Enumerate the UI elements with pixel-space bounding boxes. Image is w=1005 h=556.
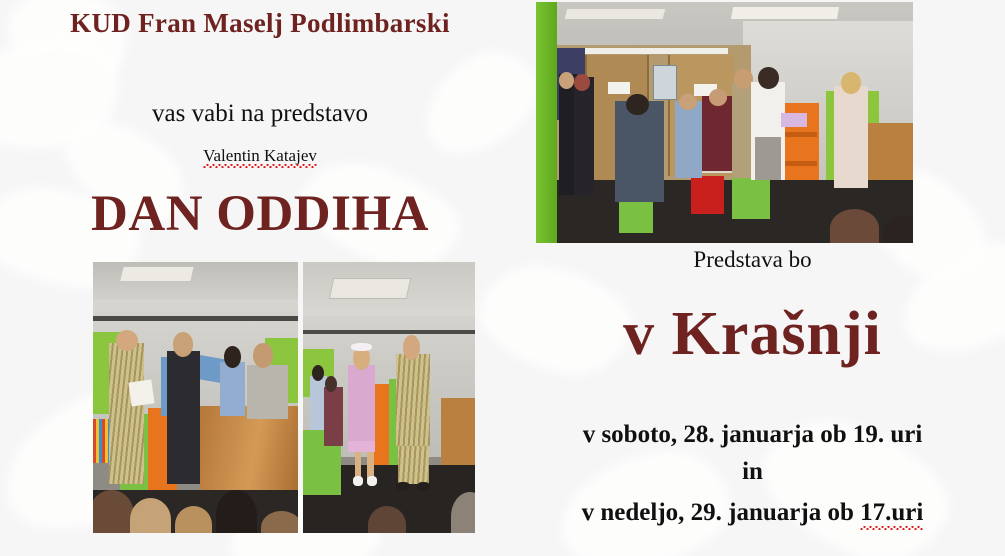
author-name: Valentin Katajev [203, 146, 317, 165]
photo-actor-head [559, 72, 575, 89]
photo-paper-sheet [128, 380, 154, 407]
photo-actor-body [675, 101, 701, 178]
photo-actor-shoe [367, 476, 377, 485]
photo-actor-vest-body [167, 351, 200, 484]
photo-actor-pyjamas-body [109, 343, 144, 484]
photo-actor-shoe [396, 482, 410, 491]
performance-date-sunday-time: 17.uri [860, 499, 923, 527]
photo-actor-head [312, 365, 324, 381]
photo-actor-head [403, 335, 420, 359]
photo-light-fixture [565, 9, 665, 19]
photo-actor-body [324, 387, 343, 447]
performance-date-saturday: v soboto, 28. januarja ob 19. uri [500, 421, 1005, 449]
photo-actor-body [834, 86, 868, 187]
stage-photo-ensemble [536, 2, 913, 243]
photo-audience-head [261, 511, 298, 533]
photo-audience-head [883, 216, 913, 243]
photo-actor-head [679, 94, 696, 111]
photo-wooden-desk [868, 123, 913, 186]
photo-actor-legs [755, 137, 781, 180]
author-name-row: Valentin Katajev [0, 146, 520, 165]
photo-door-sign [608, 82, 631, 94]
photo-green-pillar [536, 2, 557, 243]
photo-light-fixture [120, 267, 193, 281]
photo-wooden-desk [441, 398, 475, 466]
photo-wall-picture [653, 65, 678, 101]
date-conjunction: in [500, 458, 1005, 486]
photo-wooden-lectern [200, 406, 298, 498]
photo-actor-body [220, 362, 245, 416]
photo-nurse-cap [351, 343, 372, 351]
event-poster: KUD Fran Maselj Podlimbarski vas vabi na… [0, 0, 1005, 556]
photo-ceiling-rail [93, 316, 298, 320]
troupe-name: KUD Fran Maselj Podlimbarski [0, 6, 520, 42]
photo-audience-head [830, 209, 879, 243]
photo-red-chair [691, 176, 725, 215]
venue-intro: Predstava bo [500, 247, 1005, 273]
photo-actor-pyjamas-body [396, 354, 430, 446]
stage-photo-lectern [93, 262, 298, 533]
invitation-line: vas vabi na predstavo [0, 100, 520, 128]
photo-actor-head [224, 346, 240, 368]
photo-shelf-divider [783, 161, 817, 166]
performance-date-sunday: v nedeljo, 29. januarja ob 17.uri [500, 499, 1005, 527]
photo-actor-head [709, 89, 726, 106]
photo-actor-body [615, 101, 664, 202]
photo-light-fixture [577, 48, 728, 54]
venue-name: v Krašnji [500, 300, 1005, 369]
photo-actor-head [841, 72, 861, 94]
photo-actor-body [702, 96, 732, 171]
photo-gift-parcel [781, 113, 807, 127]
photo-actor-body [574, 77, 595, 195]
play-title: DAN ODDIHA [0, 186, 520, 243]
photo-light-fixture [328, 278, 410, 299]
photo-actor-body [247, 365, 288, 419]
photo-actor-shoe [353, 476, 363, 485]
photo-actor-shoe [417, 482, 431, 491]
performance-date-sunday-prefix: v nedeljo, 29. januarja ob [582, 499, 860, 526]
photo-light-fixture [731, 7, 839, 19]
photo-actor-head [758, 67, 778, 89]
photo-ceiling-rail [303, 330, 475, 334]
photo-nurse-body [348, 365, 376, 441]
photo-actor-head [626, 94, 649, 116]
stage-photo-nurse [303, 262, 475, 533]
photo-shelf-divider [783, 132, 817, 137]
photo-actor-head [253, 343, 274, 367]
